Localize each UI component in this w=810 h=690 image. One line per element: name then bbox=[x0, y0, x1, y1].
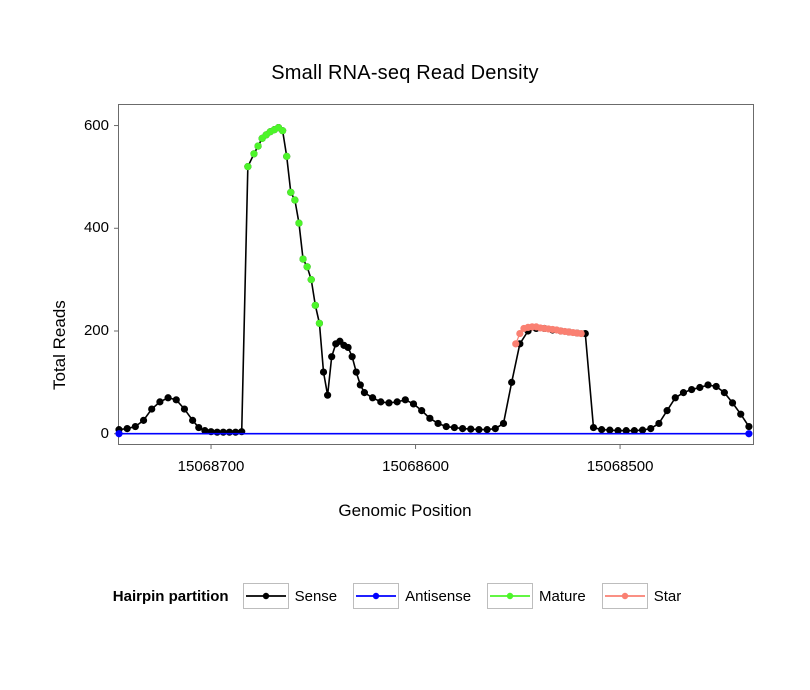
series-point-mature bbox=[284, 153, 290, 159]
series-point-sense bbox=[173, 397, 179, 403]
series-point-sense bbox=[500, 420, 506, 426]
series-point-sense bbox=[705, 382, 711, 388]
legend-title: Hairpin partition bbox=[113, 588, 229, 605]
legend-label-star: Star bbox=[654, 588, 682, 605]
legend-key-sense bbox=[243, 583, 289, 609]
series-point-sense bbox=[349, 354, 355, 360]
series-point-mature bbox=[296, 220, 302, 226]
x-tick-label: 15068600 bbox=[356, 458, 476, 475]
series-point-sense bbox=[165, 395, 171, 401]
y-tick-label: 200 bbox=[69, 322, 109, 339]
series-point-sense bbox=[132, 423, 138, 429]
series-point-mature bbox=[288, 189, 294, 195]
series-point-sense bbox=[459, 425, 465, 431]
series-point-mature bbox=[255, 143, 261, 149]
series-point-sense bbox=[345, 344, 351, 350]
series-point-sense bbox=[190, 417, 196, 423]
series-point-sense bbox=[631, 428, 637, 434]
legend-item-sense[interactable]: Sense bbox=[243, 583, 344, 609]
x-tick-label: 15068500 bbox=[560, 458, 680, 475]
legend-item-star[interactable]: Star bbox=[602, 583, 688, 609]
series-point-sense bbox=[419, 408, 425, 414]
series-point-sense bbox=[672, 395, 678, 401]
series-point-sense bbox=[599, 427, 605, 433]
series-point-mature bbox=[312, 302, 318, 308]
legend-key-star bbox=[602, 583, 648, 609]
legend-label-antisense: Antisense bbox=[405, 588, 471, 605]
series-point-sense bbox=[492, 425, 498, 431]
series-point-sense bbox=[427, 415, 433, 421]
legend-item-mature[interactable]: Mature bbox=[487, 583, 592, 609]
series-point-sense bbox=[697, 384, 703, 390]
series-point-sense bbox=[623, 428, 629, 434]
series-point-sense bbox=[124, 425, 130, 431]
legend-item-antisense[interactable]: Antisense bbox=[353, 583, 477, 609]
series-point-sense bbox=[361, 390, 367, 396]
series-point-sense bbox=[721, 390, 727, 396]
legend-label-sense: Sense bbox=[295, 588, 338, 605]
series-point-sense bbox=[615, 428, 621, 434]
series-point-sense bbox=[325, 392, 331, 398]
series-point-sense bbox=[656, 420, 662, 426]
series-point-star bbox=[513, 341, 519, 347]
series-point-sense bbox=[729, 400, 735, 406]
series-point-sense bbox=[394, 399, 400, 405]
series-point-mature bbox=[251, 151, 257, 157]
x-tick-label: 15068700 bbox=[151, 458, 271, 475]
series-point-sense bbox=[378, 399, 384, 405]
series-point-sense bbox=[746, 423, 752, 429]
y-tick-label: 0 bbox=[69, 425, 109, 442]
series-point-sense bbox=[713, 383, 719, 389]
series-point-mature bbox=[280, 128, 286, 134]
series-point-sense bbox=[468, 426, 474, 432]
series-point-antisense bbox=[116, 431, 122, 437]
series-point-sense bbox=[370, 395, 376, 401]
series-point-sense bbox=[157, 399, 163, 405]
series-point-sense bbox=[435, 420, 441, 426]
series-point-sense bbox=[202, 428, 208, 434]
series-point-mature bbox=[292, 197, 298, 203]
series-point-sense bbox=[476, 427, 482, 433]
legend-key-antisense bbox=[353, 583, 399, 609]
series-point-sense bbox=[140, 417, 146, 423]
series-point-sense bbox=[386, 400, 392, 406]
series-point-sense bbox=[680, 390, 686, 396]
series-point-sense bbox=[181, 406, 187, 412]
series-point-sense bbox=[196, 424, 202, 430]
chart-root: Small RNA-seq Read Density Total Reads G… bbox=[0, 0, 810, 690]
series-point-sense bbox=[149, 406, 155, 412]
series-point-sense bbox=[329, 354, 335, 360]
series-point-sense bbox=[484, 427, 490, 433]
series-point-mature bbox=[300, 256, 306, 262]
series-point-sense bbox=[357, 382, 363, 388]
series-point-sense bbox=[509, 379, 515, 385]
series-point-antisense bbox=[746, 431, 752, 437]
series-point-sense bbox=[410, 401, 416, 407]
series-point-sense bbox=[738, 411, 744, 417]
series-point-sense bbox=[639, 427, 645, 433]
series-point-sense bbox=[443, 423, 449, 429]
y-tick-label: 400 bbox=[69, 219, 109, 236]
series-line-sense bbox=[119, 128, 749, 433]
legend: Hairpin partition SenseAntisenseMatureSt… bbox=[0, 583, 810, 609]
series-point-mature bbox=[316, 320, 322, 326]
y-tick-label: 600 bbox=[69, 117, 109, 134]
series-point-sense bbox=[353, 369, 359, 375]
legend-key-mature bbox=[487, 583, 533, 609]
series-point-sense bbox=[607, 427, 613, 433]
series-point-sense bbox=[320, 369, 326, 375]
series-point-sense bbox=[648, 425, 654, 431]
series-point-sense bbox=[402, 397, 408, 403]
legend-label-mature: Mature bbox=[539, 588, 586, 605]
series-point-mature bbox=[308, 277, 314, 283]
series-point-sense bbox=[689, 386, 695, 392]
series-point-mature bbox=[245, 164, 251, 170]
series-point-sense bbox=[590, 424, 596, 430]
series-point-sense bbox=[451, 424, 457, 430]
series-point-sense bbox=[664, 408, 670, 414]
series-point-mature bbox=[304, 264, 310, 270]
series-point-star bbox=[578, 330, 584, 336]
